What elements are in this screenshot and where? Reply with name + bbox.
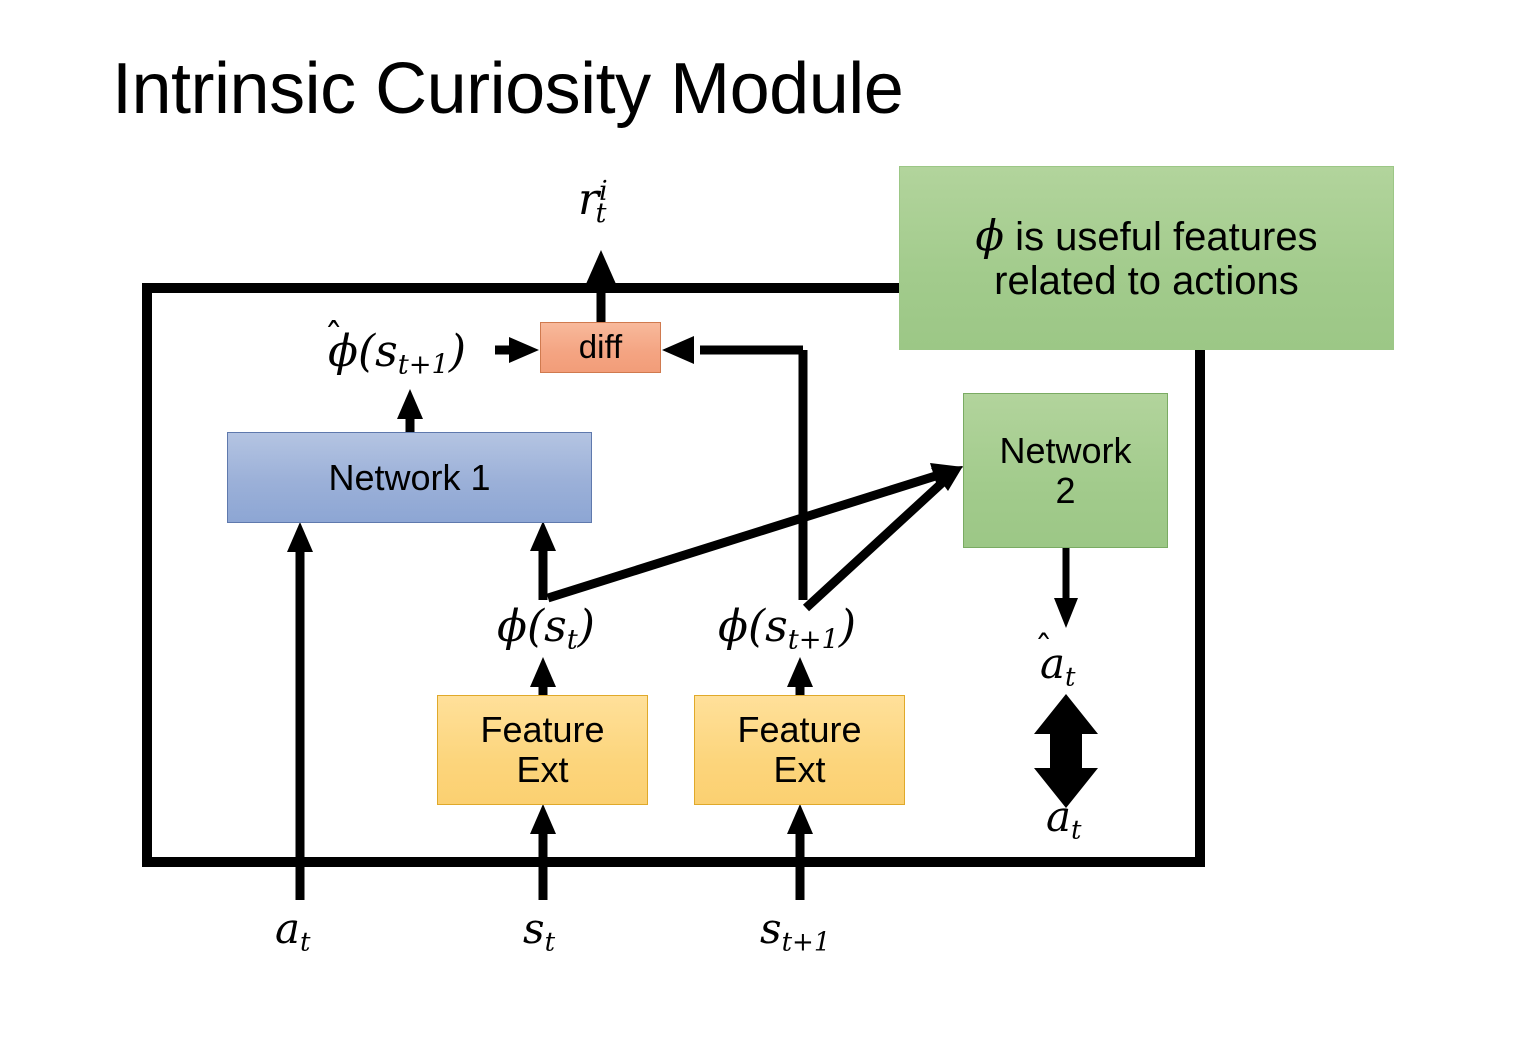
edge-st1-to-featureext2 xyxy=(787,804,813,900)
node-feature-ext-2[interactable]: Feature Ext xyxy=(694,695,905,805)
label-input-state: st xyxy=(523,908,555,955)
annotation-note-line2: related to actions xyxy=(994,259,1299,303)
node-network1[interactable]: Network 1 xyxy=(227,432,592,523)
label-intrinsic-reward: rit xyxy=(578,178,606,227)
edge-featureext1-to-phist xyxy=(530,657,556,700)
node-feature-ext-1-line1: Feature xyxy=(480,709,604,750)
label-phi-state-t: ϕ(st) xyxy=(497,605,595,654)
label-phi-state-t-plus-1: ϕ(st+1) xyxy=(718,605,856,654)
annotation-note-phi-features: ϕ is useful features related to actions xyxy=(899,166,1394,350)
node-feature-ext-2-line2: Ext xyxy=(773,749,825,790)
phi-symbol-icon: ϕ xyxy=(975,211,1004,260)
label-input-next-state: st+1 xyxy=(760,908,830,955)
node-feature-ext-2-line1: Feature xyxy=(737,709,861,750)
edge-phist1-to-diff xyxy=(662,336,803,600)
annotation-note-line1: is useful features xyxy=(1004,215,1318,259)
node-network2-label-line2: 2 xyxy=(1055,470,1075,511)
label-phi-hat-next-state: ̂ϕ(st+1) xyxy=(328,330,466,379)
diagram-connectors xyxy=(0,0,1540,1048)
label-action-true: at xyxy=(1046,796,1082,843)
edge-phist-to-network2 xyxy=(548,463,963,598)
node-feature-ext-1-line2: Ext xyxy=(516,749,568,790)
edge-ahat-vs-at-comparison xyxy=(1034,694,1098,808)
page-title: Intrinsic Curiosity Module xyxy=(112,48,903,130)
edge-network1-to-phihat xyxy=(397,389,423,432)
node-network2-label-line1: Network xyxy=(999,430,1131,471)
diagram-canvas: Intrinsic Curiosity Module Network 1 Net… xyxy=(0,0,1540,1048)
label-input-action: at xyxy=(275,908,311,955)
edge-phist-to-network1 xyxy=(530,521,556,600)
edge-at-to-network1 xyxy=(287,522,313,900)
node-network1-label: Network 1 xyxy=(328,458,490,498)
node-diff[interactable]: diff xyxy=(540,322,661,373)
node-network2[interactable]: Network 2 xyxy=(963,393,1168,548)
label-action-hat: ̂at xyxy=(1040,643,1076,690)
edge-phihat-to-diff xyxy=(495,337,539,363)
node-diff-label: diff xyxy=(579,329,622,365)
edge-phist1-to-network2 xyxy=(806,466,963,608)
edge-st-to-featureext1 xyxy=(530,804,556,900)
edge-featureext2-to-phist1 xyxy=(787,657,813,700)
node-feature-ext-1[interactable]: Feature Ext xyxy=(437,695,648,805)
edge-network2-to-ahat xyxy=(1054,548,1078,628)
